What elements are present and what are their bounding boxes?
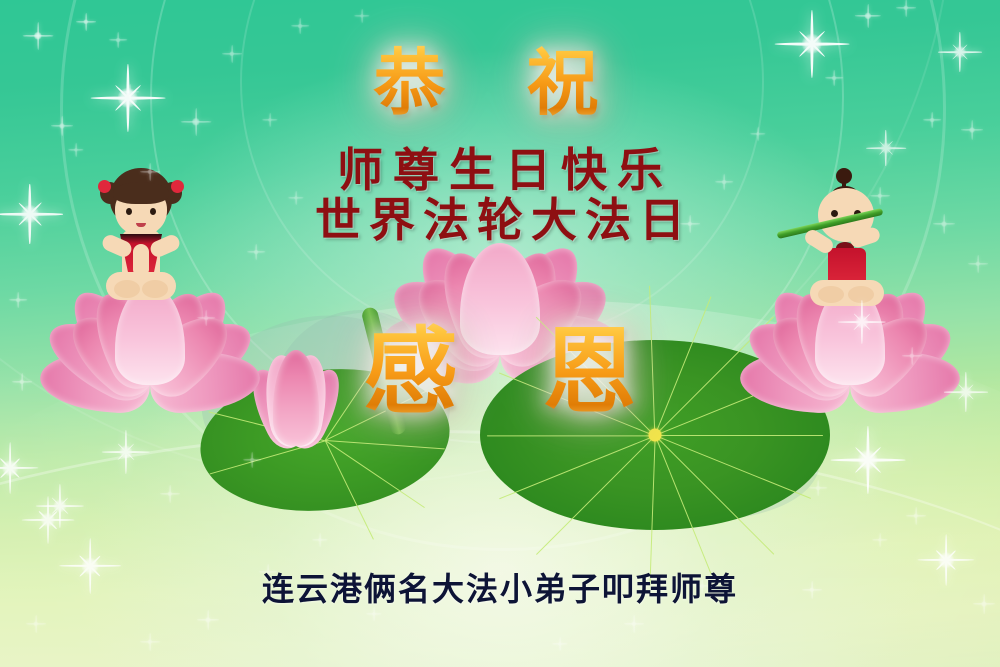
headline-text: 恭 祝 (0, 24, 1000, 129)
center-word-gratitude: 感 恩 (0, 296, 1000, 432)
signature-text: 连云港俩名大法小弟子叩拜师尊 (0, 564, 1000, 610)
greeting-card: 恭 祝 师尊生日快乐 世界法轮大法日 感 恩 连云港俩名大法小弟子叩拜师尊 (0, 0, 1000, 667)
greeting-line-2: 世界法轮大法日 (0, 184, 1000, 250)
